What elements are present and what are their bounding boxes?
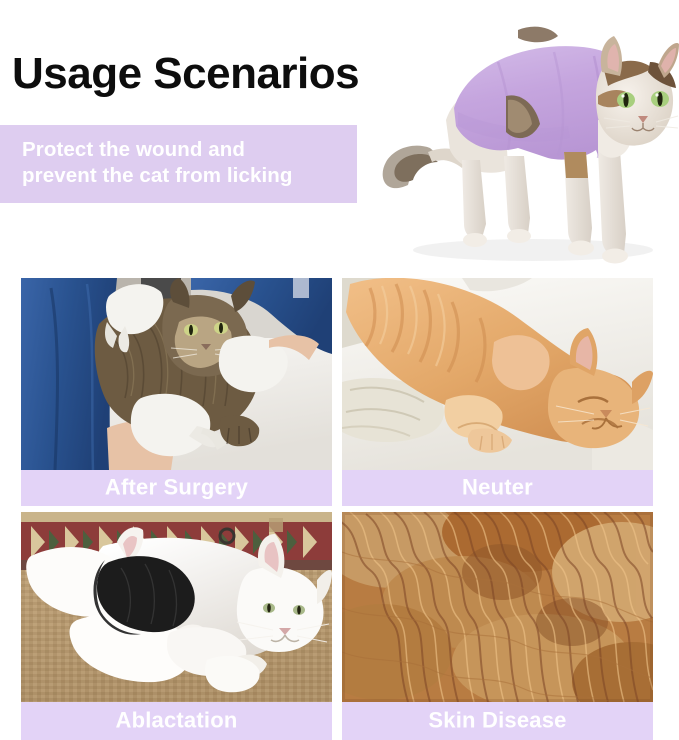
card-label-text: Neuter (342, 474, 653, 500)
card-label-skin-disease: Skin Disease (342, 702, 653, 740)
hero-banner: Protect the wound and prevent the cat fr… (0, 125, 357, 203)
card-label-text: Skin Disease (342, 707, 653, 733)
card-label-after-surgery: After Surgery (21, 470, 332, 506)
card-label-text: Ablactation (21, 707, 332, 733)
vet-examining-tabby-cat-photo (21, 278, 332, 470)
ablactation-photo-graphic (21, 512, 332, 702)
card-label-text: After Surgery (21, 474, 332, 500)
cat-in-recovery-suit-photo (358, 0, 679, 268)
card-label-ablactation: Ablactation (21, 702, 332, 740)
scenario-card-neuter: Neuter (342, 278, 653, 506)
neuter-photo-graphic (342, 278, 653, 470)
skin-disease-photo-graphic (342, 512, 653, 702)
hero-section: Usage Scenarios Protect the wound and pr… (0, 0, 679, 268)
scenario-card-skin-disease: Skin Disease (342, 512, 653, 740)
sleeping-ginger-cat-photo (342, 278, 653, 470)
page-title: Usage Scenarios (12, 50, 359, 98)
mother-cat-nursing-kittens-photo (21, 512, 332, 702)
close-up-golden-fur-photo (342, 512, 653, 702)
after-surgery-photo-graphic (21, 278, 332, 470)
scenario-grid: After Surgery (0, 268, 679, 740)
scenario-card-ablactation: Ablactation (21, 512, 332, 740)
scenario-card-after-surgery: After Surgery (21, 278, 332, 506)
hero-banner-text: Protect the wound and prevent the cat fr… (22, 137, 342, 189)
hero-photo-graphic (358, 0, 679, 268)
card-label-neuter: Neuter (342, 470, 653, 506)
